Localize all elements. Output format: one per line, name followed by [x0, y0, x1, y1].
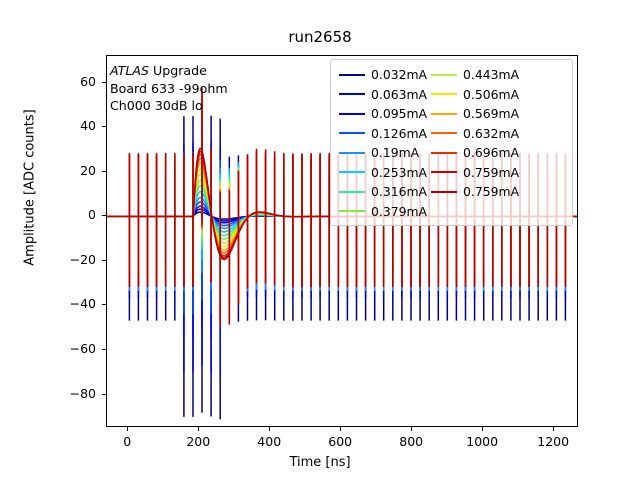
legend-column-2: 0.443mA0.506mA0.569mA0.632mA0.696mA0.759… [427, 65, 519, 221]
legend-line-swatch [431, 113, 457, 115]
legend-label: 0.379mA [371, 204, 427, 219]
legend-label: 0.316mA [371, 184, 427, 199]
y-tick [102, 82, 106, 83]
legend-line-swatch [339, 74, 365, 76]
figure: run2658 −80−60−40−200204060 020040060080… [0, 0, 640, 480]
chart-title: run2658 [0, 28, 640, 46]
legend-line-swatch [431, 93, 457, 95]
legend-label: 0.569mA [463, 106, 519, 121]
atlas-label: ATLAS [110, 63, 149, 78]
upgrade-label: Upgrade [149, 63, 207, 78]
annotation-line-1: ATLAS Upgrade [110, 62, 228, 80]
legend-line-swatch [431, 152, 457, 154]
legend-line-swatch [339, 191, 365, 193]
legend-item[interactable]: 0.506mA [427, 85, 519, 105]
legend-line-swatch [339, 171, 365, 173]
x-tick-label: 0 [92, 434, 162, 449]
legend-item[interactable]: 0.443mA [427, 65, 519, 85]
legend-line-swatch [339, 210, 365, 212]
legend-label: 0.126mA [371, 126, 427, 141]
x-tick [411, 427, 412, 431]
legend-label: 0.506mA [463, 87, 519, 102]
x-tick-label: 200 [163, 434, 233, 449]
x-axis-label: Time [ns] [0, 455, 640, 470]
legend-item[interactable]: 0.632mA [427, 124, 519, 144]
legend-label: 0.253mA [371, 165, 427, 180]
atlas-annotation: ATLAS Upgrade Board 633 -99ohm Ch000 30d… [110, 62, 228, 115]
x-tick [198, 427, 199, 431]
y-tick [102, 349, 106, 350]
y-tick-label: 20 [36, 163, 96, 178]
legend-label: 0.443mA [463, 67, 519, 82]
y-tick [102, 394, 106, 395]
legend-item[interactable]: 0.759mA [427, 182, 519, 202]
y-tick [102, 171, 106, 172]
legend-label: 0.095mA [371, 106, 427, 121]
y-tick-label: 60 [36, 74, 96, 89]
legend-item[interactable]: 0.095mA [335, 104, 427, 124]
legend-line-swatch [431, 191, 457, 193]
legend-item[interactable]: 0.379mA [335, 202, 427, 222]
x-tick [553, 427, 554, 431]
x-tick [269, 427, 270, 431]
legend-column-1: 0.032mA0.063mA0.095mA0.126mA0.19mA0.253m… [335, 65, 427, 221]
legend-line-swatch [339, 152, 365, 154]
legend-line-swatch [339, 113, 365, 115]
y-tick-label: 40 [36, 118, 96, 133]
legend-item[interactable]: 0.253mA [335, 163, 427, 183]
legend-item[interactable]: 0.569mA [427, 104, 519, 124]
legend-item[interactable]: 0.759mA [427, 163, 519, 183]
annotation-line-3: Ch000 30dB lo [110, 97, 228, 115]
legend-label: 0.696mA [463, 145, 519, 160]
legend-item[interactable]: 0.126mA [335, 124, 427, 144]
y-tick-label: −60 [36, 341, 96, 356]
legend-line-swatch [431, 74, 457, 76]
y-tick [102, 126, 106, 127]
y-tick [102, 304, 106, 305]
y-tick-label: −40 [36, 296, 96, 311]
legend-label: 0.032mA [371, 67, 427, 82]
x-tick-label: 1200 [518, 434, 588, 449]
legend-label: 0.759mA [463, 184, 519, 199]
legend-label: 0.759mA [463, 165, 519, 180]
legend[interactable]: 0.032mA0.063mA0.095mA0.126mA0.19mA0.253m… [330, 59, 573, 226]
x-tick-label: 800 [376, 434, 446, 449]
legend-label: 0.063mA [371, 87, 427, 102]
y-tick [102, 260, 106, 261]
legend-line-swatch [431, 132, 457, 134]
x-tick-label: 600 [305, 434, 375, 449]
y-tick-label: 0 [36, 207, 96, 222]
x-tick [482, 427, 483, 431]
x-tick [127, 427, 128, 431]
x-tick [340, 427, 341, 431]
legend-label: 0.19mA [371, 145, 419, 160]
y-tick-label: −80 [36, 386, 96, 401]
legend-item[interactable]: 0.19mA [335, 143, 427, 163]
y-tick [102, 215, 106, 216]
annotation-line-2: Board 633 -99ohm [110, 80, 228, 98]
legend-line-swatch [339, 93, 365, 95]
legend-label: 0.632mA [463, 126, 519, 141]
legend-item[interactable]: 0.063mA [335, 85, 427, 105]
x-tick-label: 400 [234, 434, 304, 449]
legend-item[interactable]: 0.032mA [335, 65, 427, 85]
y-axis-label: Amplitude [ADC counts] [23, 0, 38, 378]
legend-line-swatch [431, 171, 457, 173]
legend-item[interactable]: 0.316mA [335, 182, 427, 202]
x-tick-label: 1000 [447, 434, 517, 449]
y-tick-label: −20 [36, 252, 96, 267]
legend-item[interactable]: 0.696mA [427, 143, 519, 163]
legend-line-swatch [339, 132, 365, 134]
